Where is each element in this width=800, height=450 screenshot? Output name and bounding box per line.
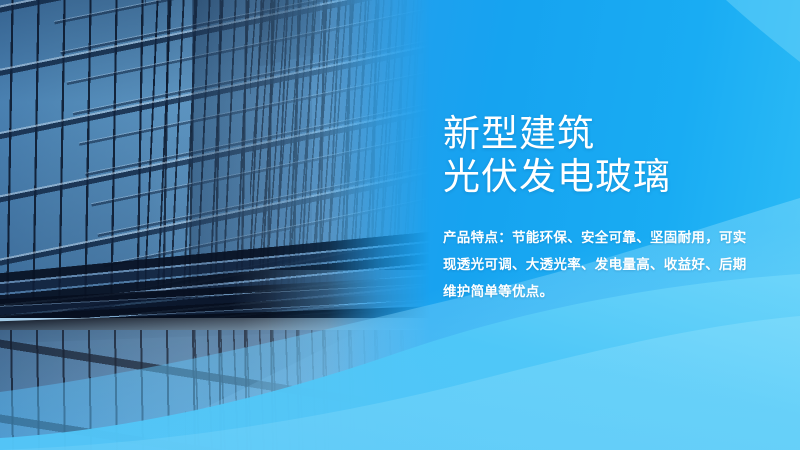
copy-block: 新型建筑 光伏发电玻璃 产品特点：节能环保、安全可靠、坚固耐用，可实现透光可调、… <box>443 112 783 305</box>
headline-line-1: 新型建筑 <box>443 112 783 155</box>
wave-corner-accent <box>726 0 800 62</box>
poster-canvas: 新型建筑 光伏发电玻璃 产品特点：节能环保、安全可靠、坚固耐用，可实现透光可调、… <box>0 0 800 450</box>
headline-line-2: 光伏发电玻璃 <box>443 155 783 198</box>
product-features-text: 产品特点：节能环保、安全可靠、坚固耐用，可实现透光可调、大透光率、发电量高、收益… <box>443 224 748 305</box>
